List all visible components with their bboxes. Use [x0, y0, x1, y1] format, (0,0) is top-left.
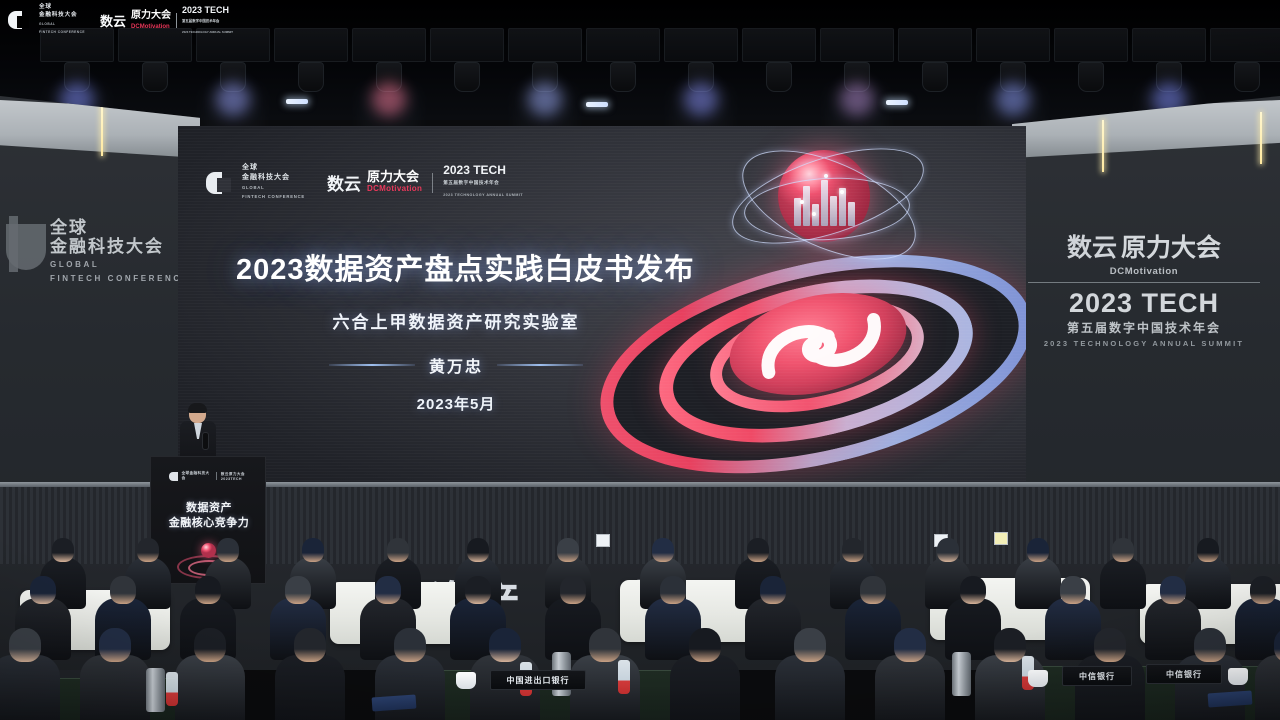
screen-name-rule-right	[497, 364, 583, 366]
table-nameplate-label: 中信银行	[1079, 671, 1115, 682]
left-wall-light-strip	[101, 104, 103, 156]
fintech-logo-icon	[6, 216, 46, 274]
audience-person-body	[775, 655, 845, 720]
audience-person	[875, 628, 945, 720]
audience-person-head	[1060, 576, 1086, 604]
screen-date: 2023年5月	[236, 393, 676, 414]
watermark-shuyun-cn: 数云	[100, 11, 126, 30]
podium-fintech-logo-icon	[169, 472, 178, 481]
audience-person-head	[467, 538, 489, 562]
right-sign-shuyun: 数云	[1067, 228, 1117, 264]
watermark-tech-cn: 第五届数字中国技术年会	[182, 19, 219, 23]
left-sign-en-line1: GLOBAL	[50, 259, 196, 270]
screen-tech-sub-en: 2023 TECHNOLOGY ANNUAL SUMMIT	[443, 193, 523, 197]
screen-name-rule-left	[329, 364, 415, 366]
audience-person-head	[937, 538, 959, 562]
screen-global-en1: GLOBAL	[242, 184, 305, 192]
audience-person-head	[842, 538, 864, 562]
conference-stage-scene: 全球 金融科技大会 GLOBAL FINTECH CONFERENCE 数云 原…	[0, 0, 1280, 720]
audience-person	[775, 628, 845, 720]
ceiling-led-3	[886, 100, 908, 105]
right-sign-yuanli: 原力大会	[1121, 228, 1221, 264]
right-wall-light-strip-1	[1102, 120, 1104, 172]
table-nameplate: 中信银行	[1062, 666, 1132, 686]
watermark-global-en1: GLOBAL	[39, 21, 85, 28]
broadcast-watermark: 全球 金融科技大会 GLOBAL FINTECH CONFERENCE 数云 原…	[8, 4, 233, 36]
truss-bar	[508, 28, 582, 62]
watermark-tech-year: 2023 TECH	[182, 5, 229, 15]
audience-person	[0, 628, 60, 720]
stage-light-fixture	[142, 62, 168, 92]
screen-shuyun-logo: 数云 原力大会 DCMotivation 2023 TECH 第五届数字中国技术…	[327, 165, 523, 200]
audience-person-head	[994, 628, 1026, 662]
tea-cup	[1228, 668, 1248, 685]
truss-bar	[1054, 28, 1128, 62]
audience-person-head	[794, 628, 826, 662]
ceiling-led-1	[286, 99, 308, 104]
audience-person-head	[1250, 576, 1276, 604]
audience-person-head	[195, 576, 221, 604]
podium-title-line1: 数据资产	[151, 501, 267, 516]
audience-person	[1255, 628, 1280, 720]
truss-bar	[898, 28, 972, 62]
left-sign-en-line2: FINTECH CONFERENCE	[50, 273, 196, 284]
water-bottle	[166, 672, 178, 706]
right-sign-tech: 2023 TECH	[1022, 289, 1266, 317]
audience-person	[670, 628, 740, 720]
left-sign-cn-line1: 全球	[50, 218, 196, 237]
truss-bar	[664, 28, 738, 62]
table-nameplate-label: 中国进出口银行	[507, 675, 570, 686]
screen-speaker-name: 黄万忠	[429, 353, 483, 377]
watermark-global-cn2: 金融科技大会	[39, 12, 85, 19]
audience-person-body	[80, 655, 150, 720]
global-fintech-logo-icon	[206, 170, 232, 196]
audience-person-head	[294, 628, 326, 662]
audience-person-body	[275, 655, 345, 720]
stage-light-fixture	[610, 62, 636, 92]
audience-person-body	[670, 655, 740, 720]
audience-person-head	[652, 538, 674, 562]
audience-person-body	[175, 655, 245, 720]
audience-person-head	[394, 628, 426, 662]
screen-global-cn2: 金融科技大会	[242, 174, 305, 182]
screen-global-cn1: 全球	[242, 164, 305, 172]
screen-motivation-en: DCMotivation	[367, 184, 422, 193]
main-led-screen: 全球 金融科技大会 GLOBAL FINTECH CONFERENCE 数云 原…	[178, 126, 1026, 484]
audience-person	[80, 628, 150, 720]
audience-person-head	[1160, 576, 1186, 604]
table-nameplate: 中信银行	[1146, 664, 1222, 684]
watermark-shuyun-logo: 数云 原力大会 DCMotivation 2023 TECH 第五届数字中国技术…	[100, 5, 233, 36]
screen-subtitle: 六合上甲数据资产研究实验室	[236, 308, 676, 333]
audience-person-head	[9, 628, 41, 662]
truss-bar	[274, 28, 348, 62]
truss-bar	[820, 28, 894, 62]
audience-person-head	[747, 538, 769, 562]
audience-person-head	[217, 538, 239, 562]
stage-light-fixture	[1234, 62, 1260, 92]
audience-person-head	[110, 576, 136, 604]
tea-cup	[1028, 670, 1048, 687]
screen-global-en2: FINTECH CONFERENCE	[242, 193, 305, 201]
truss-bar	[586, 28, 660, 62]
podium-logo-right-label: 数云原力大会 2023TECH	[221, 472, 265, 481]
stage-light-fixture	[298, 62, 324, 92]
screen-tech-year: 2023 TECH	[443, 163, 506, 177]
audience-person-head	[387, 538, 409, 562]
audience-person-body	[1075, 655, 1145, 720]
left-sign-cn-line2: 金融科技大会	[50, 237, 196, 256]
audience-person-head	[465, 576, 491, 604]
left-wall-signage: 全球 金融科技大会 GLOBAL FINTECH CONFERENCE	[10, 218, 196, 284]
table-nameplate: 中国进出口银行	[490, 670, 586, 690]
table-nameplate-label: 中信银行	[1166, 669, 1202, 680]
truss-bar	[1210, 28, 1280, 62]
watermark-fintech-logo-icon	[8, 9, 30, 31]
right-sign-sub-cn: 第五届数字中国技术年会	[1022, 319, 1266, 336]
audience-person	[275, 628, 345, 720]
truss-bar	[742, 28, 816, 62]
screen-text-block: 2023数据资产盘点实践白皮书发布 六合上甲数据资产研究实验室 黄万忠 2023…	[236, 246, 676, 414]
audience-area: 中国进出口银行中信银行中信银行	[0, 520, 1280, 720]
tea-cup	[456, 672, 476, 689]
stage-light-fixture	[1078, 62, 1104, 92]
audience-person-body	[975, 655, 1045, 720]
truss-row	[0, 28, 1280, 88]
audience-person-head	[375, 576, 401, 604]
audience-person-head	[99, 628, 131, 662]
right-wall-signage: 数云 原力大会 DCMotivation 2023 TECH 第五届数字中国技术…	[1022, 228, 1266, 348]
right-sign-sub-en: 2023 TECHNOLOGY ANNUAL SUMMIT	[1022, 339, 1266, 348]
audience-person-head	[489, 628, 521, 662]
audience-person-head	[589, 628, 621, 662]
right-wall-light-strip-2	[1260, 112, 1262, 164]
screen-logo-divider	[432, 173, 433, 193]
audience-person-head	[557, 538, 579, 562]
thermos-flask	[146, 668, 165, 712]
right-sign-divider	[1028, 282, 1260, 283]
truss-bar	[352, 28, 426, 62]
truss-bar	[1132, 28, 1206, 62]
watermark-global-cn1: 全球	[39, 4, 85, 11]
audience-person-head	[960, 576, 986, 604]
audience-person-head	[1027, 538, 1049, 562]
audience-person-head	[860, 576, 886, 604]
screen-shuyun-cn: 数云	[327, 170, 361, 195]
audience-person	[1100, 538, 1146, 614]
audience-person-head	[1094, 628, 1126, 662]
watermark-tech-en: 2023 TECHNOLOGY ANNUAL SUMMIT	[182, 30, 233, 34]
truss-bar	[430, 28, 504, 62]
microphone-icon	[202, 432, 209, 450]
audience-person-head	[52, 538, 74, 562]
audience-person-head	[1197, 538, 1219, 562]
audience-person-head	[660, 576, 686, 604]
podium-logo-bar: 全球金融科技大会 数云原力大会 2023TECH	[169, 471, 265, 481]
audience-person-head	[760, 576, 786, 604]
audience-person-head	[285, 576, 311, 604]
audience-person	[175, 628, 245, 720]
truss-bar	[976, 28, 1050, 62]
audience-person-head	[137, 538, 159, 562]
audience-person-head	[894, 628, 926, 662]
stage-light-fixture	[922, 62, 948, 92]
audience-person-body	[875, 655, 945, 720]
stage-light-fixture	[766, 62, 792, 92]
audience-person-head	[30, 576, 56, 604]
screen-tech-sub-cn: 第五届数字中国技术年会	[443, 180, 499, 185]
podium-logo-left-label: 全球金融科技大会	[182, 471, 212, 481]
audience-person-head	[194, 628, 226, 662]
water-bottle	[618, 660, 630, 694]
audience-person-body	[1100, 557, 1146, 609]
screen-yuanli-cn: 原力大会	[367, 169, 419, 184]
ceiling-led-2	[586, 102, 608, 107]
stage-light-fixture	[454, 62, 480, 92]
audience-person-head	[560, 576, 586, 604]
audience-person-head	[689, 628, 721, 662]
right-sign-motivation-en: DCMotivation	[1022, 266, 1266, 277]
watermark-yuanli-cn: 原力大会	[131, 10, 171, 21]
watermark-motivation-en: DCMotivation	[131, 24, 170, 30]
screen-title: 2023数据资产盘点实践白皮书发布	[236, 246, 676, 288]
audience-person-head	[1194, 628, 1226, 662]
audience-person-body	[0, 655, 60, 720]
screen-logo-bar: 全球 金融科技大会 GLOBAL FINTECH CONFERENCE 数云 原…	[206, 164, 523, 201]
watermark-global-en2: FINTECH CONFERENCE	[39, 29, 85, 36]
audience-person-body	[1255, 655, 1280, 720]
audience-person-head	[1112, 538, 1134, 562]
audience-person-head	[302, 538, 324, 562]
thermos-flask	[952, 652, 971, 696]
